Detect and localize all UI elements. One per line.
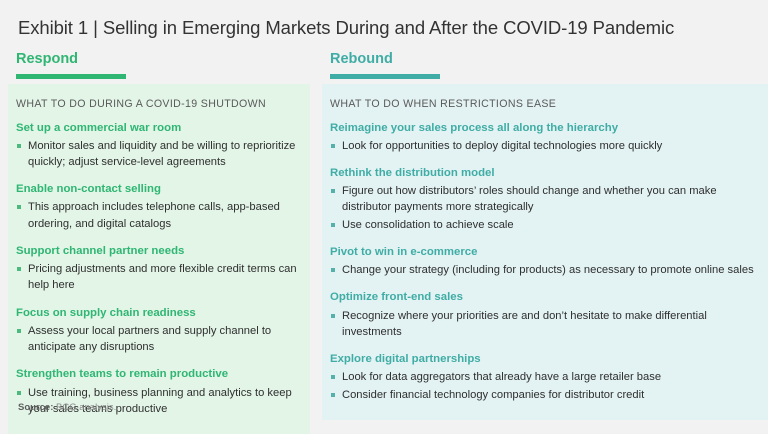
group-item: Rethink the distribution model Figure ou… (330, 166, 756, 233)
square-bullet-icon (331, 268, 335, 272)
bullet-text: Look for opportunities to deploy digital… (342, 140, 662, 152)
group-item: Reimagine your sales process all along t… (330, 121, 756, 154)
bullet-item: Figure out how distributors’ roles shoul… (330, 183, 756, 215)
bullet-item: This approach includes telephone calls, … (16, 199, 298, 231)
group-item: Pivot to win in e-commerce Change your s… (330, 245, 756, 278)
bullet-item: Look for data aggregators that already h… (330, 369, 756, 385)
column-heading-rebound: Rebound (322, 52, 768, 67)
bullet-list: Change your strategy (including for prod… (330, 262, 756, 278)
bullet-text: Look for data aggregators that already h… (342, 371, 661, 383)
bullet-list: Assess your local partners and supply ch… (16, 323, 298, 355)
bullet-item: Recognize where your priorities are and … (330, 308, 756, 340)
panel-rebound: WHAT TO DO WHEN RESTRICTIONS EASE Reimag… (322, 84, 768, 420)
source-text: BCG analysis. (56, 402, 116, 413)
bullet-list: Recognize where your priorities are and … (330, 308, 756, 340)
bullet-item: Monitor sales and liquidity and be willi… (16, 138, 298, 170)
bullet-list: Look for data aggregators that already h… (330, 369, 756, 402)
group-title: Enable non-contact selling (16, 182, 298, 196)
bullet-text: Consider financial technology companies … (342, 389, 644, 401)
square-bullet-icon (331, 314, 335, 318)
square-bullet-icon (17, 267, 21, 271)
group-title: Pivot to win in e-commerce (330, 245, 756, 259)
bullet-text: Recognize where your priorities are and … (342, 310, 707, 338)
bullet-text: Pricing adjustments and more flexible cr… (28, 263, 297, 291)
bullet-item: Use consolidation to achieve scale (330, 217, 756, 233)
kicker-rebound: WHAT TO DO WHEN RESTRICTIONS EASE (330, 98, 756, 110)
group-title: Explore digital partnerships (330, 352, 756, 366)
group-title: Optimize front-end sales (330, 290, 756, 304)
group-title: Strengthen teams to remain productive (16, 367, 298, 381)
bullet-item: Pricing adjustments and more flexible cr… (16, 261, 298, 293)
bullet-list: Figure out how distributors’ roles shoul… (330, 183, 756, 233)
bullet-text: Figure out how distributors’ roles shoul… (342, 185, 717, 213)
bullet-text: Monitor sales and liquidity and be willi… (28, 140, 295, 168)
group-title: Focus on supply chain readiness (16, 306, 298, 320)
bullet-item: Consider financial technology companies … (330, 387, 756, 403)
column-rebound: Rebound WHAT TO DO WHEN RESTRICTIONS EAS… (322, 52, 768, 420)
square-bullet-icon (331, 189, 335, 193)
group-item: Explore digital partnerships Look for da… (330, 352, 756, 403)
square-bullet-icon (331, 223, 335, 227)
bullet-text: Assess your local partners and supply ch… (28, 325, 271, 353)
square-bullet-icon (331, 144, 335, 148)
square-bullet-icon (17, 329, 21, 333)
exhibit-container: Exhibit 1 | Selling in Emerging Markets … (0, 0, 768, 433)
bullet-text: This approach includes telephone calls, … (28, 201, 280, 229)
group-item: Optimize front-end sales Recognize where… (330, 290, 756, 340)
bullet-list: Monitor sales and liquidity and be willi… (16, 138, 298, 170)
square-bullet-icon (17, 205, 21, 209)
bullet-text: Use consolidation to achieve scale (342, 219, 514, 231)
bullet-text: Change your strategy (including for prod… (342, 264, 754, 276)
group-title: Support channel partner needs (16, 244, 298, 258)
group-item: Focus on supply chain readiness Assess y… (16, 306, 298, 356)
bullet-list: Pricing adjustments and more flexible cr… (16, 261, 298, 293)
page-title: Exhibit 1 | Selling in Emerging Markets … (18, 17, 674, 39)
bullet-item: Change your strategy (including for prod… (330, 262, 756, 278)
bullet-list: Look for opportunities to deploy digital… (330, 138, 756, 154)
square-bullet-icon (331, 393, 335, 397)
square-bullet-icon (17, 144, 21, 148)
column-heading-respond: Respond (8, 52, 310, 67)
group-title: Rethink the distribution model (330, 166, 756, 180)
square-bullet-icon (17, 391, 21, 395)
group-item: Support channel partner needs Pricing ad… (16, 244, 298, 294)
column-rule-rebound (330, 74, 440, 79)
bullet-item: Assess your local partners and supply ch… (16, 323, 298, 355)
bullet-item: Look for opportunities to deploy digital… (330, 138, 756, 154)
panel-respond: WHAT TO DO DURING A COVID-19 SHUTDOWN Se… (8, 84, 310, 434)
group-title: Reimagine your sales process all along t… (330, 121, 756, 135)
group-title: Set up a commercial war room (16, 121, 298, 135)
square-bullet-icon (331, 375, 335, 379)
bullet-list: This approach includes telephone calls, … (16, 199, 298, 231)
source-note: Source: BCG analysis. (18, 402, 116, 413)
kicker-respond: WHAT TO DO DURING A COVID-19 SHUTDOWN (16, 98, 298, 110)
group-item: Set up a commercial war room Monitor sal… (16, 121, 298, 171)
column-rule-respond (16, 74, 126, 79)
source-label: Source: (18, 402, 53, 413)
column-respond: Respond WHAT TO DO DURING A COVID-19 SHU… (8, 52, 310, 434)
group-item: Enable non-contact selling This approach… (16, 182, 298, 232)
